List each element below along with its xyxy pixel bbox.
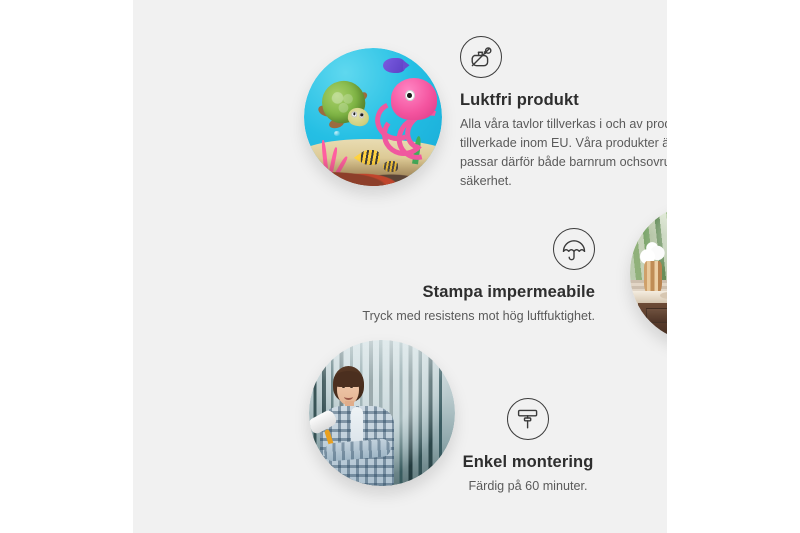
feature-waterproof-print: Stampa impermeabile Tryck med resistens …: [333, 228, 595, 326]
feature-1-description: Alla våra tavlor tillverkas i och av pro…: [460, 115, 667, 192]
wood-vanity-cabinet: [638, 303, 667, 342]
content-panel: Luktfri produkt Alla våra tavlor tillver…: [133, 0, 667, 533]
feature-3-icon-wrap: [433, 398, 623, 445]
feature-easy-mounting: Enkel montering Färdig på 60 minuter.: [433, 398, 623, 496]
purple-fish-icon: [383, 58, 405, 73]
octopus-icon: [376, 78, 439, 153]
umbrella-icon: [553, 228, 595, 270]
feature-3-description: Färdig på 60 minuter.: [433, 477, 623, 496]
painter-woman: [315, 366, 406, 486]
feature-1-icon-wrap: [460, 36, 667, 83]
bathroom-artwork: [630, 204, 667, 342]
ocean-rocks: [304, 158, 442, 186]
feature-odourless-product: Luktfri produkt Alla våra tavlor tillver…: [460, 36, 667, 192]
feature-2-icon-wrap: [333, 228, 595, 275]
bathroom-artwork-medallion: [630, 204, 667, 342]
ocean-artwork: [304, 48, 442, 186]
feature-2-title: Stampa impermeabile: [333, 283, 595, 302]
paint-roller-icon: [507, 398, 549, 440]
feature-1-title: Luktfri produkt: [460, 91, 667, 110]
promo-feature-panel: Luktfri produkt Alla våra tavlor tillver…: [0, 0, 800, 533]
ocean-artwork-medallion: [304, 48, 442, 186]
feature-2-description: Tryck med resistens mot hög luftfuktighe…: [333, 307, 595, 326]
sea-turtle-icon: [316, 81, 377, 136]
no-fragrance-icon: [460, 36, 502, 78]
feature-3-title: Enkel montering: [433, 453, 623, 472]
